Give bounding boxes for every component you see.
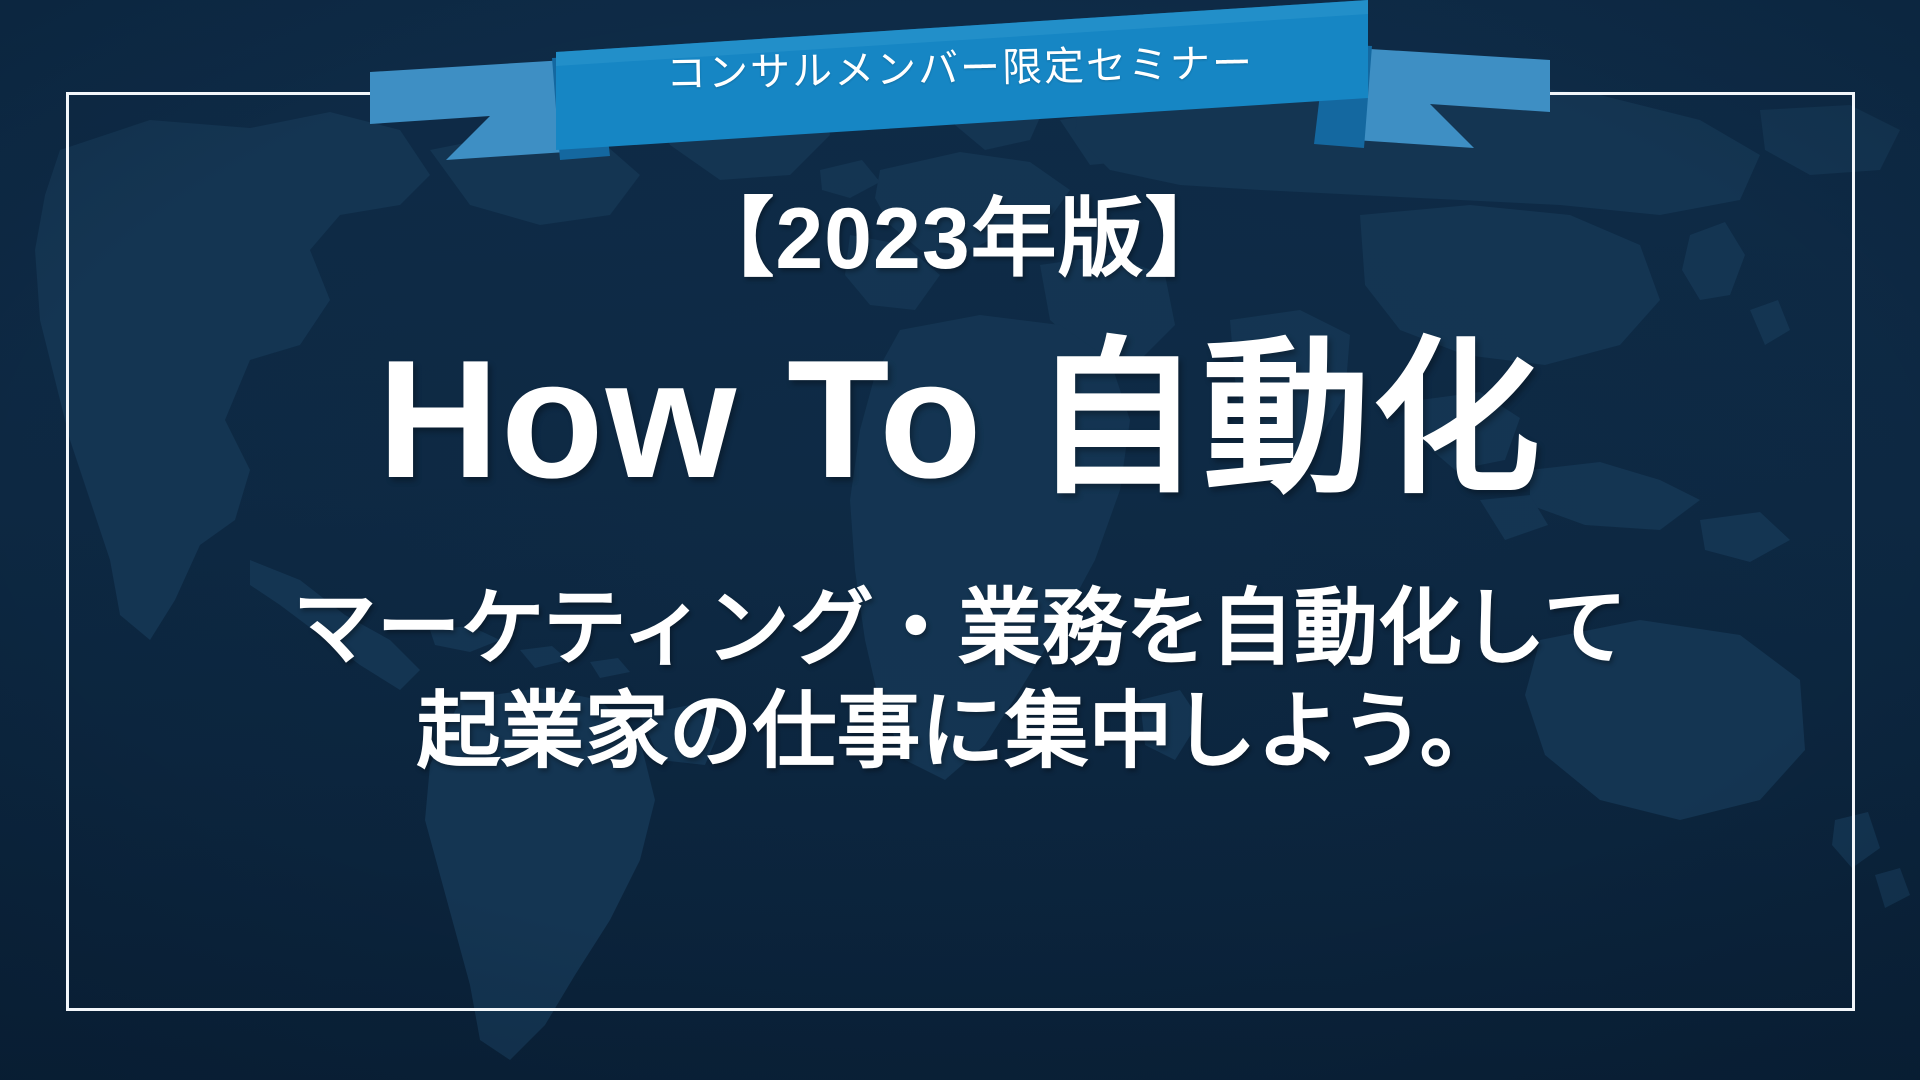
seminar-title-slide: コンサルメンバー限定セミナー 【2023年版】 How To 自動化 マーケティ… <box>0 0 1920 1080</box>
decorative-frame-border <box>66 92 1855 1011</box>
